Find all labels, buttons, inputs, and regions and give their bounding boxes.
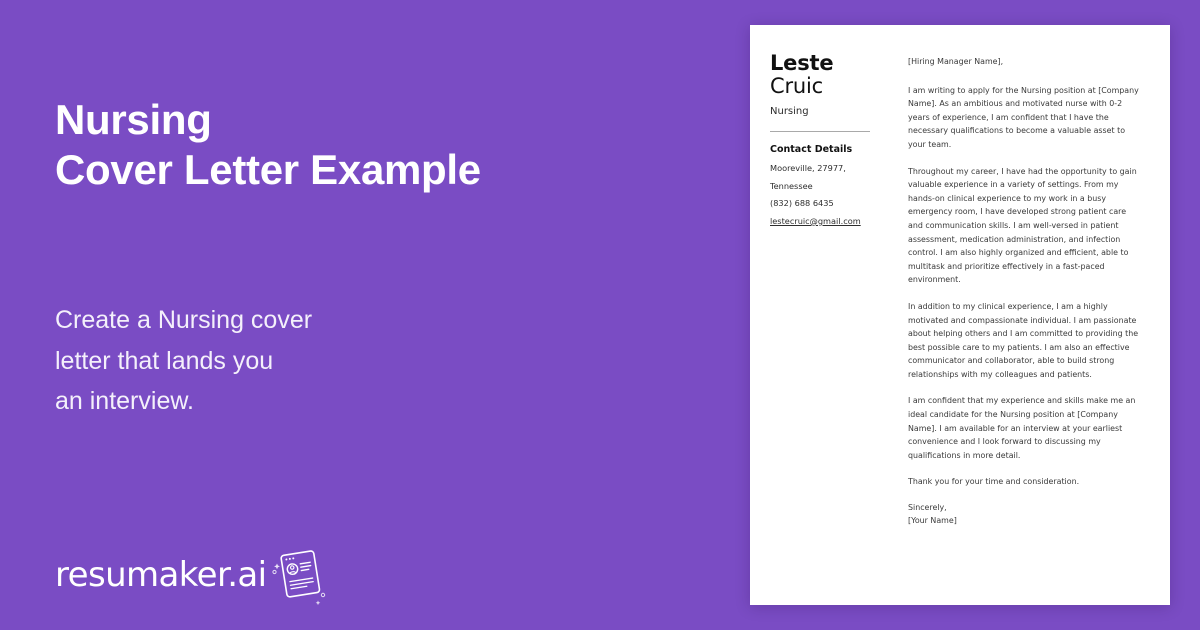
letter-salutation: [Hiring Manager Name], bbox=[908, 55, 1142, 69]
headline-line-1: Nursing bbox=[55, 96, 212, 143]
letter-sidebar: Leste Cruic Nursing Contact Details Moor… bbox=[750, 25, 898, 605]
letter-signature-block: Sincerely, [Your Name] bbox=[908, 502, 1142, 527]
letter-paragraph-4: I am confident that my experience and sk… bbox=[908, 394, 1142, 462]
cover-letter-document: Leste Cruic Nursing Contact Details Moor… bbox=[750, 25, 1170, 605]
resumaker-logo[interactable]: resumaker.ai bbox=[55, 545, 329, 605]
promo-banner: Nursing Cover Letter Example Create a Nu… bbox=[0, 0, 1200, 630]
applicant-first-name: Leste bbox=[770, 53, 898, 75]
contact-address-line-1: Mooreville, 27977, bbox=[770, 162, 898, 174]
sidebar-divider bbox=[770, 131, 870, 132]
letter-paragraph-3: In addition to my clinical experience, I… bbox=[908, 300, 1142, 382]
promo-subheading: Create a Nursing cover letter that lands… bbox=[55, 300, 575, 422]
contact-details-heading: Contact Details bbox=[770, 144, 898, 155]
letter-body: [Hiring Manager Name], I am writing to a… bbox=[898, 25, 1170, 605]
subheading-line-1: Create a Nursing cover bbox=[55, 300, 575, 341]
letter-closing: Sincerely, bbox=[908, 502, 1142, 515]
promo-headline-block: Nursing Cover Letter Example bbox=[55, 95, 655, 194]
headline-line-2: Cover Letter Example bbox=[55, 145, 655, 195]
letter-paragraph-2: Throughout my career, I have had the opp… bbox=[908, 165, 1142, 287]
contact-address-line-2: Tennessee bbox=[770, 180, 898, 192]
applicant-last-name: Cruic bbox=[770, 75, 898, 99]
logo-wordmark: resumaker.ai bbox=[55, 555, 267, 595]
page-title: Nursing Cover Letter Example bbox=[55, 95, 655, 194]
letter-paragraph-1: I am writing to apply for the Nursing po… bbox=[908, 84, 1142, 152]
subheading-line-3: an interview. bbox=[55, 381, 575, 422]
contact-email-link[interactable]: lestecruic@gmail.com bbox=[770, 215, 898, 227]
subheading-line-2: letter that lands you bbox=[55, 341, 575, 382]
letter-signature-name: [Your Name] bbox=[908, 515, 1142, 528]
resume-document-icon bbox=[271, 545, 329, 605]
applicant-role: Nursing bbox=[770, 106, 898, 117]
letter-paragraph-5: Thank you for your time and consideratio… bbox=[908, 475, 1142, 489]
contact-phone: (832) 688 6435 bbox=[770, 197, 898, 209]
